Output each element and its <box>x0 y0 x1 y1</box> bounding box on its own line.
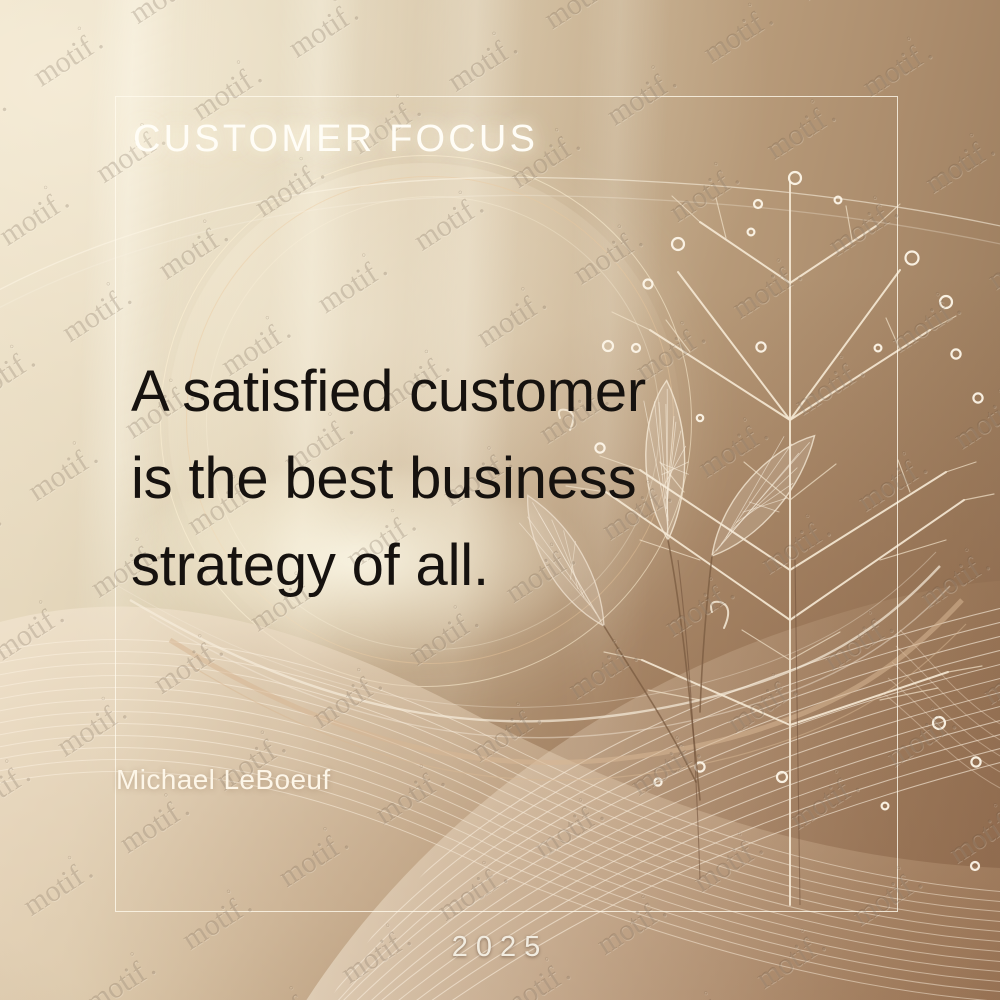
watermark-text: motif°. <box>221 0 380 38</box>
watermark-text: motif°. <box>0 737 115 896</box>
quote-text: A satisfied customer is the best busines… <box>131 348 771 609</box>
watermark-text: motif°. <box>0 323 120 482</box>
watermark-text: motif°. <box>0 482 86 641</box>
watermark-text: motif°. <box>0 641 52 800</box>
watermark-text: motif°. <box>0 67 91 226</box>
watermark-text: motif°. <box>881 685 1000 844</box>
watermark-text: motif°. <box>915 526 1000 685</box>
watermark-text: motif°. <box>539 0 698 106</box>
watermark-text: motif°. <box>983 207 1000 366</box>
watermark-text: motif°. <box>795 0 954 77</box>
watermark-text: motif°. <box>0 226 57 385</box>
quote-card: motif°.motif°.motif°.motif°.motif°.motif… <box>0 0 1000 1000</box>
watermark-text: motif°. <box>636 0 795 43</box>
watermark-text: motif°. <box>477 0 636 10</box>
quote-line: strategy of all. <box>131 522 771 609</box>
watermark-text: motif°. <box>125 0 284 101</box>
quote-line: A satisfied customer <box>131 348 771 435</box>
watermark-text: motif°. <box>949 366 1000 525</box>
watermark-text: motif°. <box>978 622 1000 781</box>
watermark-text: motif°. <box>654 969 813 1000</box>
quote-line: is the best business <box>131 435 771 522</box>
watermark-text: motif°. <box>0 385 23 544</box>
watermark-text: motif°. <box>886 270 1000 429</box>
watermark-text: motif°. <box>920 111 1000 270</box>
eyebrow-heading: CUSTOMER FOCUS <box>133 118 538 161</box>
watermark-text: motif°. <box>380 0 539 72</box>
author-attribution: Michael LeBoeuf <box>116 764 331 796</box>
year-label: 2025 <box>0 931 1000 964</box>
watermark-text: motif°. <box>240 964 399 1000</box>
watermark-text: motif°. <box>944 781 1000 940</box>
